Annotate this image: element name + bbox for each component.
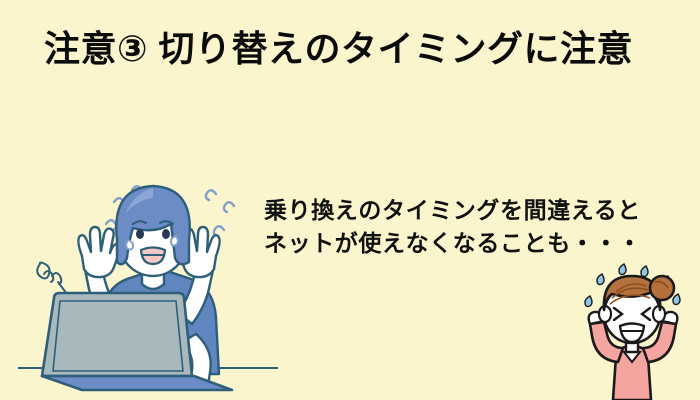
body-text: 乗り換えのタイミングを間違えると ネットが使えなくなることも・・・ (264, 194, 642, 259)
laptop-screen (42, 293, 192, 376)
page-title: 注意③ 切り替えのタイミングに注意 (44, 26, 664, 71)
scribble-mark (37, 263, 67, 295)
right-woman-mouth (620, 324, 644, 343)
distressed-woman-illustration (562, 252, 700, 400)
right-woman-hair-bun (650, 276, 674, 300)
cheek-sweat (171, 236, 178, 246)
woman-eye-right (162, 229, 170, 239)
panicking-woman-at-laptop-illustration (10, 178, 280, 400)
body-line-1: 乗り換えのタイミングを間違えると (264, 194, 642, 227)
slide-canvas: 注意③ 切り替えのタイミングに注意 (0, 0, 700, 400)
woman-left-hand (78, 227, 120, 277)
woman-eye-left (136, 229, 144, 239)
